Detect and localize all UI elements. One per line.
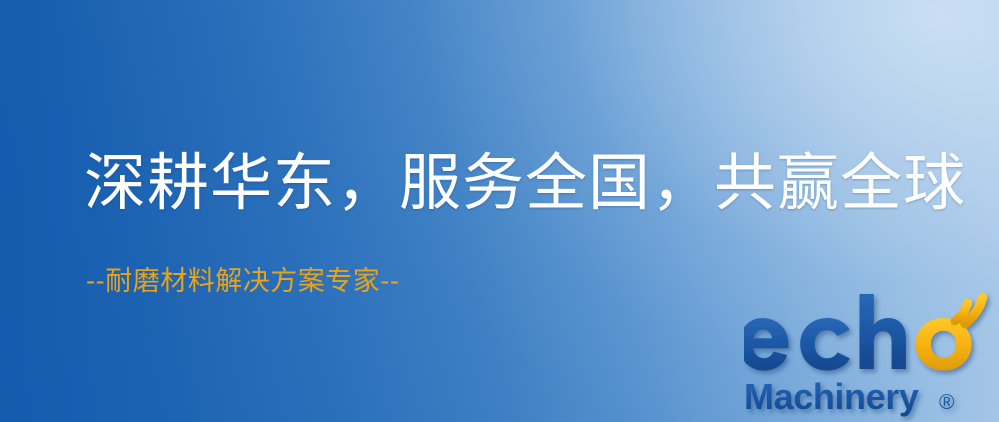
logo-wordmark-group: Machinery ® [744, 294, 983, 417]
banner-headline: 深耕华东，服务全国，共赢全球 [84, 152, 966, 214]
logo-tagline-text: Machinery [744, 376, 919, 417]
logo-letter-h [860, 294, 906, 369]
logo-registered-mark: ® [939, 391, 955, 414]
hero-banner: 深耕华东，服务全国，共赢全球 --耐磨材料解决方案专家-- [0, 0, 999, 422]
echo-machinery-logo[interactable]: Machinery ® [744, 292, 999, 422]
logo-letter-e [744, 318, 789, 371]
logo-signal-arcs-icon [955, 298, 983, 324]
logo-letter-c [800, 318, 850, 371]
logo-artwork: Machinery ® [744, 292, 999, 422]
banner-subtitle: --耐磨材料解决方案专家-- [86, 268, 400, 295]
